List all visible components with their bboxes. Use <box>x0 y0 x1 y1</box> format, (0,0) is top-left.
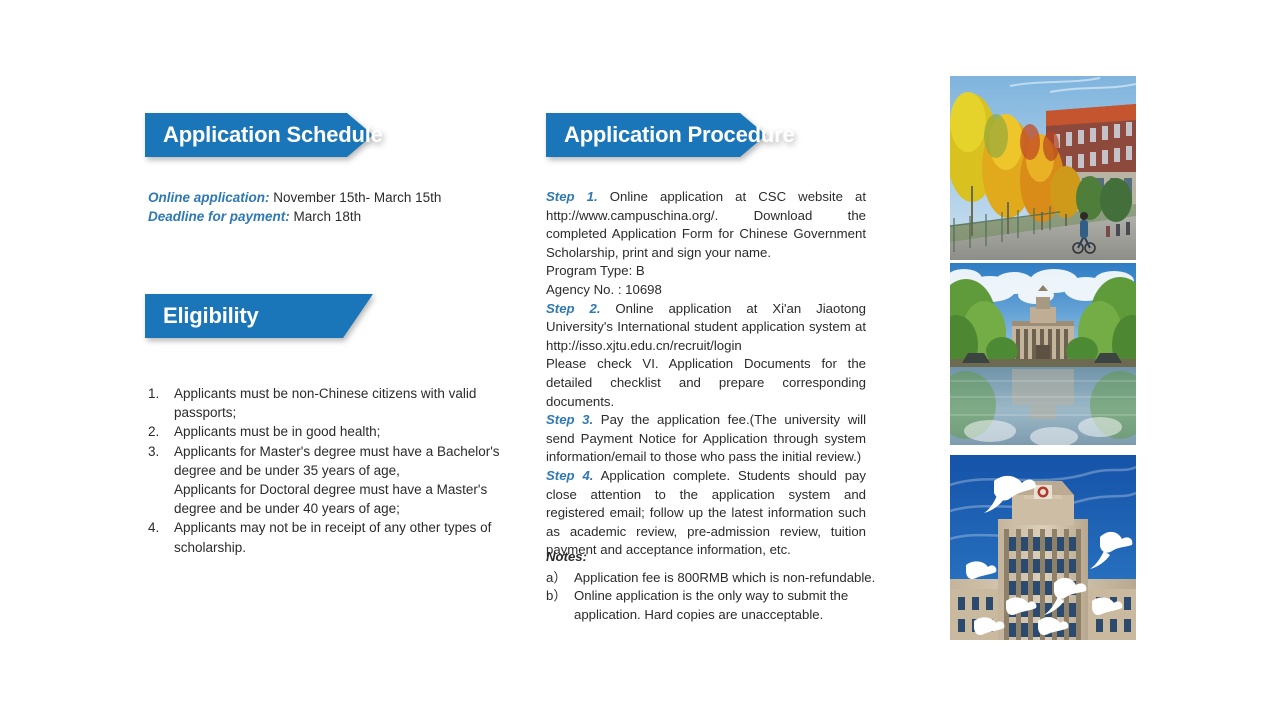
schedule-label-online-application: Online application: <box>148 190 270 205</box>
banner-title-eligibility: Eligibility <box>145 303 259 329</box>
list-item-text: Applicants for Master's degree must have… <box>174 442 508 519</box>
schedule-label-deadline-for-payment: Deadline for payment: <box>148 209 290 224</box>
photo-library-lake <box>950 263 1136 445</box>
procedure-agency-no: Agency No. : 10698 <box>546 281 866 300</box>
list-item-text: Applicants must be non-Chinese citizens … <box>174 384 508 422</box>
procedure-step-4: Step 4. Application complete. Students s… <box>546 467 866 560</box>
list-item-marker: b） <box>546 587 574 606</box>
list-item-number: 3. <box>148 442 174 461</box>
banner-title-application-schedule: Application Schedule <box>145 122 383 148</box>
list-item-number: 2. <box>148 422 174 441</box>
application-procedure-content: Step 1. Online application at CSC websit… <box>546 188 866 560</box>
step-label: Step 4. <box>546 468 593 483</box>
banner-title-application-procedure: Application Procedure <box>546 122 795 148</box>
schedule-row-online-application: Online application: November 15th- March… <box>148 188 548 207</box>
list-item-marker: a） <box>546 569 574 588</box>
list-item: a） Application fee is 800RMB which is no… <box>546 569 876 588</box>
list-item: b） Online application is the only way to… <box>546 587 876 624</box>
step-text: Please check VI. Application Documents f… <box>546 356 866 408</box>
banner-application-schedule: Application Schedule <box>145 113 373 157</box>
schedule-value-online-application: November 15th- March 15th <box>273 190 441 205</box>
photo-autumn-campus <box>950 76 1136 260</box>
tower-doves-illustration <box>950 455 1136 640</box>
step-label: Step 1. <box>546 189 598 204</box>
step-label: Step 2. <box>546 301 601 316</box>
list-item-text-primary: Applicants for Master's degree must have… <box>174 442 508 480</box>
list-item: 1. Applicants must be non-Chinese citize… <box>148 384 508 422</box>
step-text: Program Type: B <box>546 263 645 278</box>
step-text: Application complete. Students should pa… <box>546 468 866 557</box>
procedure-step-1: Step 1. Online application at CSC websit… <box>546 188 866 262</box>
schedule-value-deadline-for-payment: March 18th <box>294 209 362 224</box>
notes-content: Notes: a） Application fee is 800RMB whic… <box>546 548 876 624</box>
schedule-row-deadline-for-payment: Deadline for payment: March 18th <box>148 207 548 226</box>
application-schedule-content: Online application: November 15th- March… <box>148 188 548 226</box>
list-item-text: Application fee is 800RMB which is non-r… <box>574 569 876 588</box>
list-item-text: Online application is the only way to su… <box>574 587 876 624</box>
step-text: Pay the application fee.(The university … <box>546 412 866 464</box>
list-item: 2. Applicants must be in good health; <box>148 422 508 441</box>
procedure-step-2-note: Please check VI. Application Documents f… <box>546 355 866 411</box>
procedure-step-3: Step 3. Pay the application fee.(The uni… <box>546 411 866 467</box>
list-item-text: Applicants may not be in receipt of any … <box>174 518 508 556</box>
list-item-text-secondary: Applicants for Doctoral degree must have… <box>174 480 508 518</box>
step-text: Agency No. : 10698 <box>546 282 662 297</box>
list-item: 3. Applicants for Master's degree must h… <box>148 442 508 519</box>
autumn-campus-illustration <box>950 76 1136 260</box>
banner-application-procedure: Application Procedure <box>546 113 766 157</box>
list-item: 4. Applicants may not be in receipt of a… <box>148 518 508 556</box>
photo-tower-doves <box>950 455 1136 640</box>
list-item-number: 1. <box>148 384 174 403</box>
list-item-text: Applicants must be in good health; <box>174 422 508 441</box>
banner-eligibility: Eligibility <box>145 294 373 338</box>
eligibility-content: 1. Applicants must be non-Chinese citize… <box>148 384 508 557</box>
procedure-program-type: Program Type: B <box>546 262 866 281</box>
library-lake-illustration <box>950 263 1136 445</box>
notes-title: Notes: <box>546 548 876 567</box>
step-label: Step 3. <box>546 412 593 427</box>
list-item-number: 4. <box>148 518 174 537</box>
procedure-step-2: Step 2. Online application at Xi'an Jiao… <box>546 300 866 356</box>
